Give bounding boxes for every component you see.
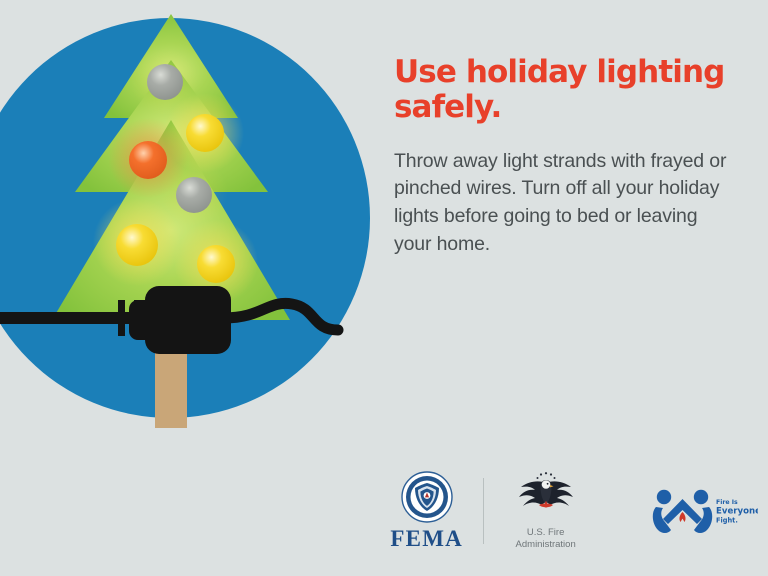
fema-wordmark: FEMA xyxy=(390,526,463,552)
usfa-label-line1: U.S. Fire xyxy=(527,527,564,538)
usfa-logo: U.S. Fire Administration xyxy=(503,471,588,551)
feef-figure-right xyxy=(694,490,712,533)
fema-logo: FEMA xyxy=(388,471,465,552)
fray-mark-1 xyxy=(118,300,125,336)
feef-flame-icon xyxy=(679,512,685,522)
ornament-gray-upper xyxy=(147,64,183,100)
ornament-yellow-left xyxy=(116,224,158,266)
logo-bar: FEMA xyxy=(388,466,758,556)
logo-divider xyxy=(483,478,484,544)
ornament-orange xyxy=(129,141,167,179)
fire-is-everyones-fight-logo: Fire Is Everyone's Fight. xyxy=(650,486,758,536)
feef-line3: Fight. xyxy=(716,517,738,525)
feef-line2: Everyone's xyxy=(716,507,758,517)
usfa-eagle-icon xyxy=(515,471,577,523)
poster-canvas: Use holiday lighting safely. Throw away … xyxy=(0,0,768,576)
message-block: Use holiday lighting safely. Throw away … xyxy=(394,55,739,258)
safety-message: Throw away light strands with frayed or … xyxy=(394,148,739,259)
ornament-yellow-right xyxy=(197,245,235,283)
ornament-yellow-upper xyxy=(186,114,224,152)
dhs-seal-icon xyxy=(401,471,453,523)
feef-line1: Fire Is xyxy=(716,499,738,506)
usfa-label-line2: Administration xyxy=(516,539,576,550)
page-title: Use holiday lighting safely. xyxy=(394,55,739,126)
ornament-gray-lower xyxy=(176,177,212,213)
usfa-label: U.S. Fire Administration xyxy=(516,527,576,551)
feef-figure-left xyxy=(653,490,671,533)
illustration-christmas-tree xyxy=(0,0,384,440)
